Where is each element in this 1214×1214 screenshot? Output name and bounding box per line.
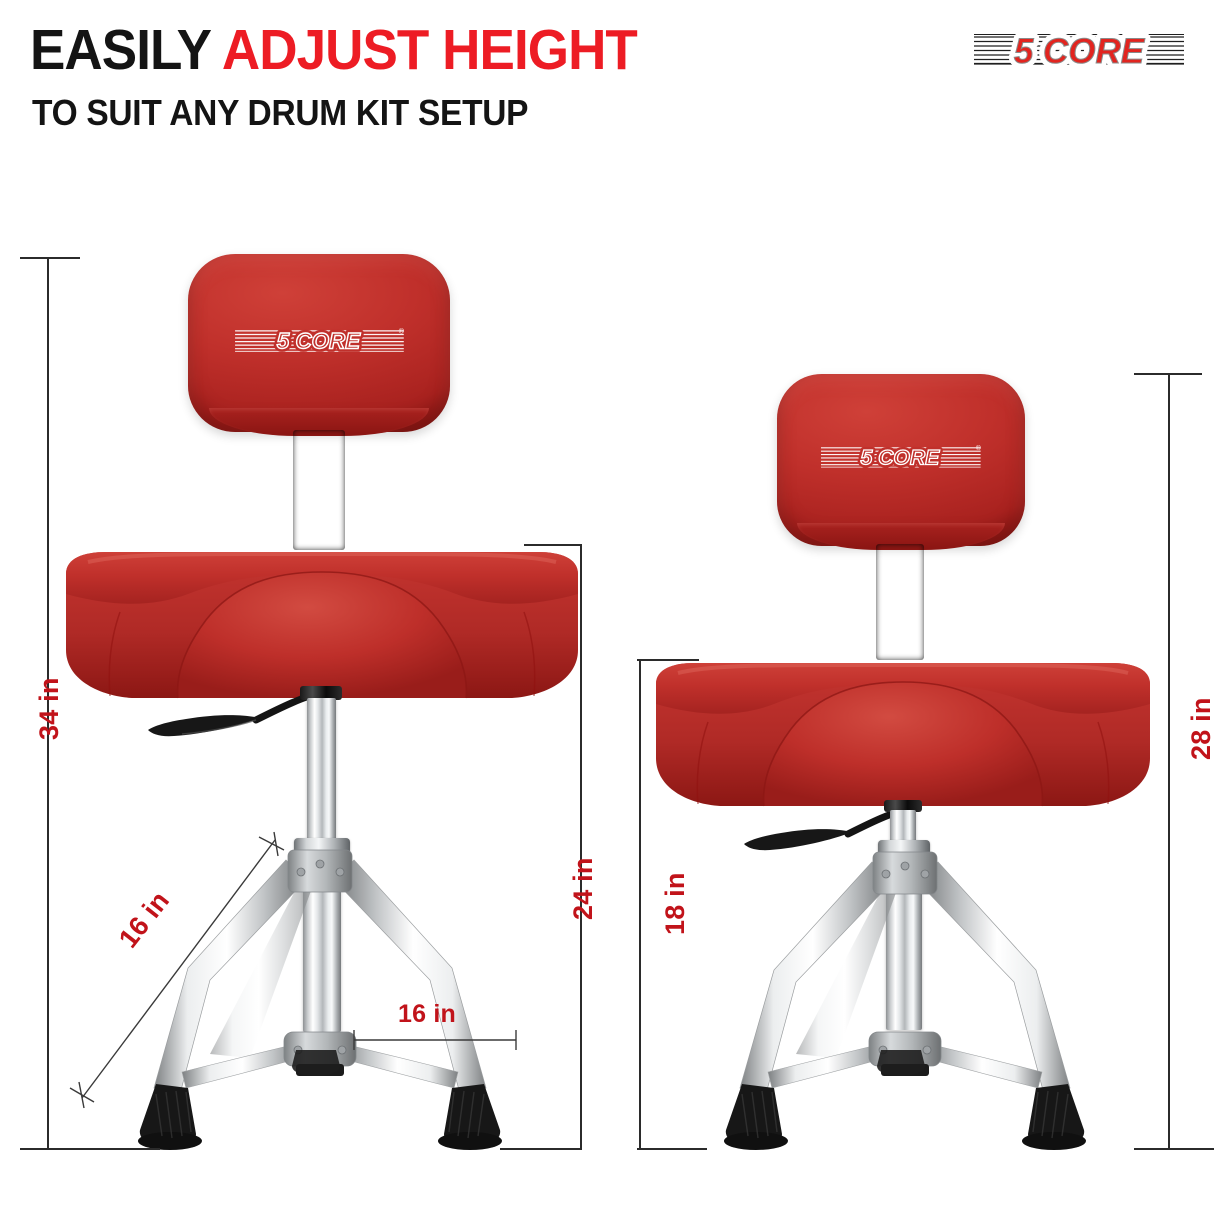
dim-line-right-seat-height <box>639 660 641 1150</box>
left-foot-right <box>438 1084 502 1150</box>
right-foot-rear <box>877 1050 925 1076</box>
right-foot-left <box>724 1084 788 1150</box>
registered-mark-icon: ® <box>976 445 981 453</box>
svg-text:5 CORE: 5 CORE <box>861 447 941 470</box>
dim-label-right-seat-height: 18 in <box>660 872 691 935</box>
dim-label-left-seat-height: 24 in <box>568 857 599 920</box>
dim-tick-left-total-top <box>20 257 80 259</box>
dim-tick-right-total-bottom <box>1134 1148 1214 1150</box>
left-backrest: 5 CORE 5 CORE ® <box>188 254 450 432</box>
right-seat <box>648 640 1158 818</box>
right-tripod-base <box>650 840 1160 1166</box>
dim-arrow-left-diagonal <box>60 830 340 1120</box>
dim-tick-right-seat-top <box>637 659 699 661</box>
dim-label-left-horizontal: 16 in <box>398 1000 456 1029</box>
dim-tick-left-seat-top <box>524 544 582 546</box>
registered-mark-icon: ® <box>398 327 404 335</box>
dim-line-left-seat-height <box>580 545 582 1150</box>
infographic-canvas: EASILY ADJUST HEIGHT TO SUIT ANY DRUM KI… <box>0 0 1214 1214</box>
svg-text:5 CORE: 5 CORE <box>276 328 360 353</box>
right-foot-right <box>1022 1084 1086 1150</box>
dim-tick-right-total-top <box>1134 373 1202 375</box>
dim-tick-left-total-bottom <box>20 1148 160 1150</box>
dim-arrow-left-horizontal <box>350 1028 520 1052</box>
dim-tick-left-seat-bottom <box>500 1148 582 1150</box>
right-backrest: 5 CORE 5 CORE ® <box>777 374 1025 546</box>
dim-tick-right-seat-bottom <box>637 1148 707 1150</box>
dim-label-right-total-height: 28 in <box>1186 697 1214 760</box>
right-backrest-logo: 5 CORE 5 CORE ® <box>819 439 983 477</box>
dim-label-left-total-height: 34 in <box>34 677 65 740</box>
right-stool: 5 CORE 5 CORE ® <box>600 0 1214 1214</box>
left-backrest-logo: 5 CORE 5 CORE ® <box>233 322 406 361</box>
dim-line-right-total-height <box>1168 374 1170 1150</box>
left-seat <box>58 528 586 710</box>
left-height-adjust-lever[interactable] <box>132 690 332 760</box>
